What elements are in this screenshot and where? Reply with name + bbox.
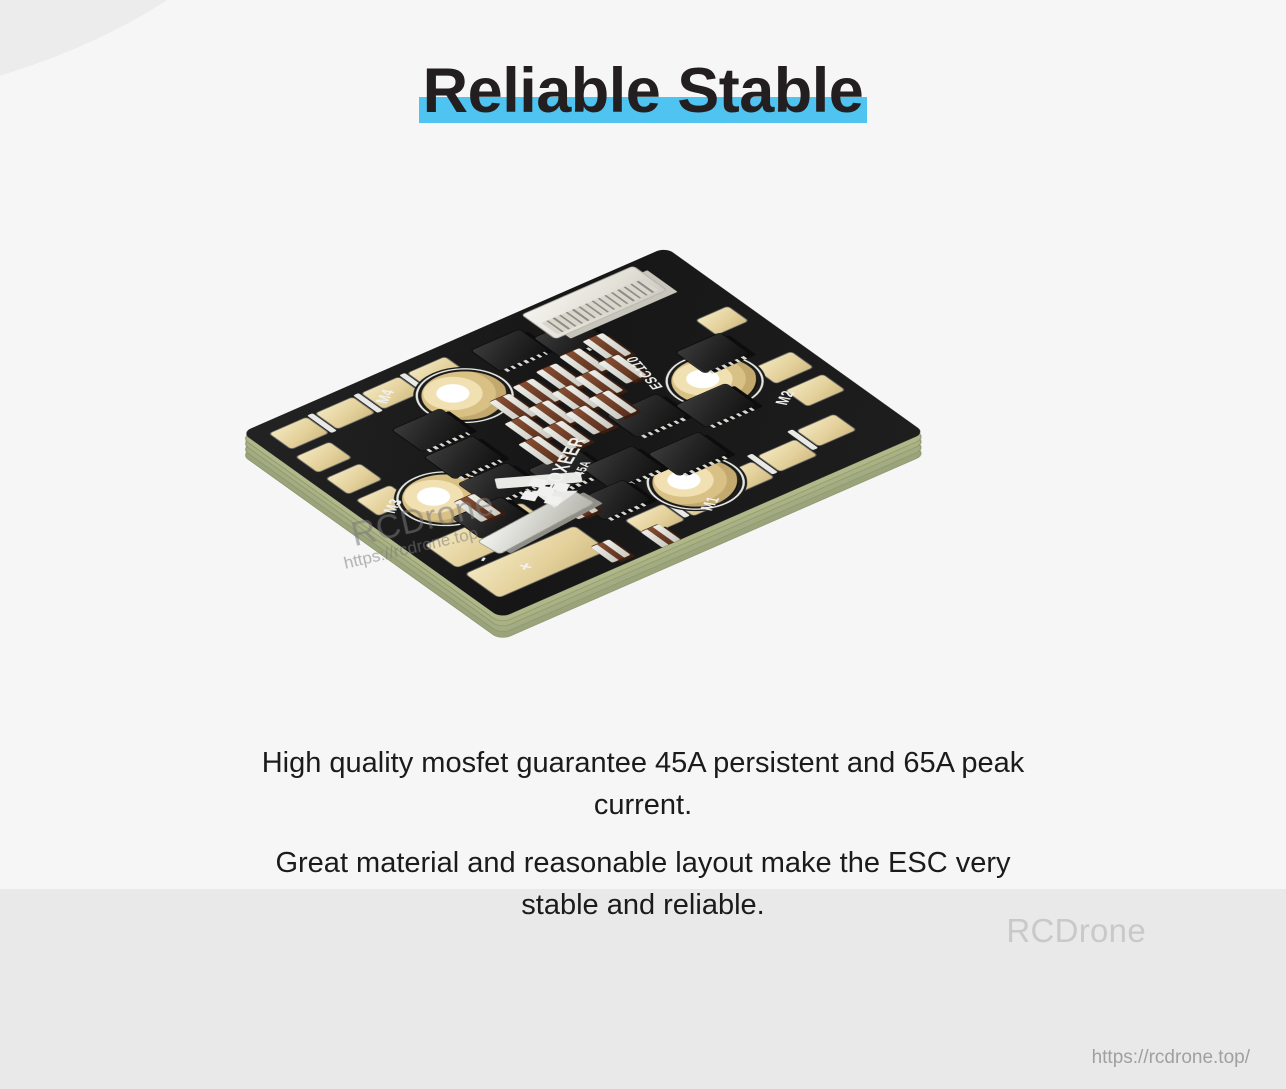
page-title: Reliable Stable xyxy=(417,58,870,128)
description-paragraph-1: High quality mosfet guarantee 45A persis… xyxy=(243,742,1043,826)
pcb-3d-scene: FOXEER 45A M4 M3 M2 M1 ESC110 - + xyxy=(242,207,1061,649)
capacitor xyxy=(642,525,680,548)
pcb-solder-mask: FOXEER 45A M4 M3 M2 M1 ESC110 - + xyxy=(242,247,925,618)
jst-connector xyxy=(522,266,666,338)
solder-pad xyxy=(327,464,382,494)
connector-pins xyxy=(542,279,659,335)
brand-watermark: RCDrone xyxy=(1006,912,1146,950)
silk-label-negative: - xyxy=(469,554,497,563)
description-block: High quality mosfet guarantee 45A persis… xyxy=(0,742,1286,926)
title-text: Reliable Stable xyxy=(423,56,864,126)
footer-url: https://rcdrone.top/ xyxy=(1092,1047,1250,1069)
solder-pad xyxy=(696,306,748,334)
solder-pad xyxy=(786,375,844,407)
solder-pad xyxy=(296,442,351,472)
headline-container: Reliable Stable xyxy=(0,58,1286,128)
description-paragraph-2: Great material and reasonable layout mak… xyxy=(243,842,1043,926)
silk-label-m2: M2 xyxy=(772,389,799,406)
solder-pad xyxy=(754,352,812,384)
product-image: FOXEER 45A M4 M3 M2 M1 ESC110 - + RCDron… xyxy=(0,218,1286,668)
capacitor xyxy=(592,540,630,563)
